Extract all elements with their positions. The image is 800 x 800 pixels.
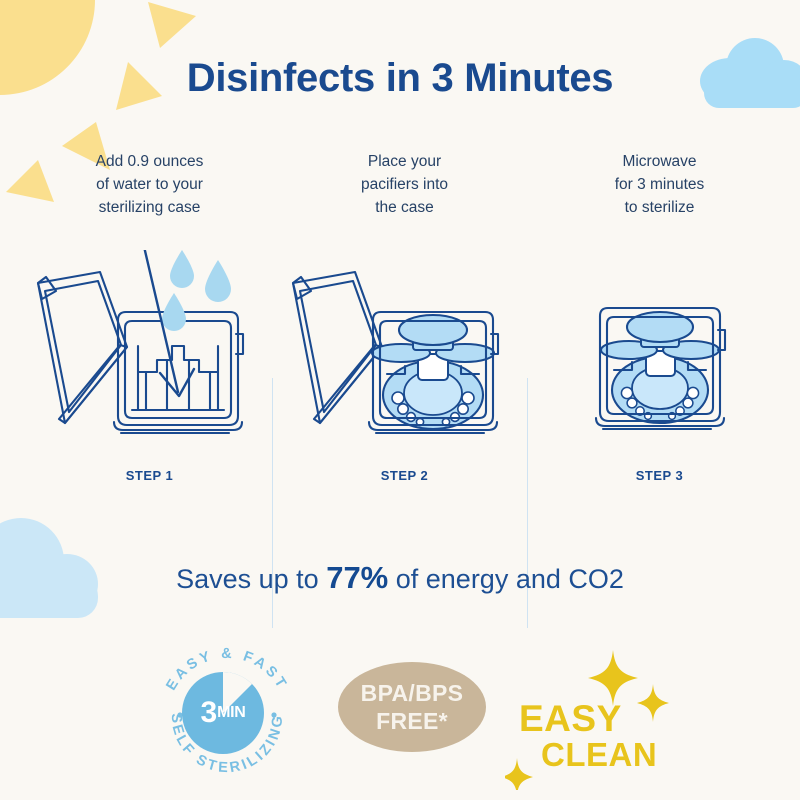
caption-line: of water to your <box>42 173 257 196</box>
caption-line: sterilizing case <box>42 196 257 219</box>
caption-line: the case <box>297 196 512 219</box>
bpa-line-2: FREE* <box>376 707 448 735</box>
step-column-1: Add 0.9 ounces of water to your steriliz… <box>22 150 277 510</box>
pie-timer-icon: 3MIN <box>182 672 264 754</box>
steps-section: Add 0.9 ounces of water to your steriliz… <box>0 150 800 510</box>
caption-line: to sterilize <box>552 196 767 219</box>
savings-prefix: Saves up to <box>176 564 326 594</box>
easy-clean-line-2: CLEAN <box>541 736 657 774</box>
savings-suffix: of energy and CO2 <box>388 564 624 594</box>
bpa-free-badge: BPA/BPS FREE* <box>338 662 486 752</box>
savings-value: 77% <box>326 560 388 595</box>
step-column-2: Place your pacifiers into the case <box>277 150 532 510</box>
water-drop <box>162 250 231 331</box>
step-2-caption: Place your pacifiers into the case <box>277 150 532 219</box>
open-case-with-pacifier-icon <box>277 250 532 465</box>
step-1-label: STEP 1 <box>22 468 277 483</box>
caption-line: for 3 minutes <box>552 173 767 196</box>
seal-center-number: 3 <box>200 698 217 728</box>
step-column-3: Microwave for 3 minutes to sterilize <box>532 150 787 510</box>
step-3-caption: Microwave for 3 minutes to sterilize <box>532 150 787 219</box>
caption-line: Microwave <box>552 150 767 173</box>
easy-clean-badge: EASY CLEAN <box>505 640 690 790</box>
open-case-with-water-drops-icon <box>22 250 277 465</box>
infographic-canvas: Disinfects in 3 Minutes Add 0.9 ounces o… <box>0 0 800 800</box>
closed-case-with-pacifier-icon <box>532 250 787 465</box>
caption-line: pacifiers into <box>297 173 512 196</box>
caption-line: Place your <box>297 150 512 173</box>
step-3-label: STEP 3 <box>532 468 787 483</box>
step-2-label: STEP 2 <box>277 468 532 483</box>
easy-fast-seal-badge: EASY & FAST SELF STERILIZING 3MIN <box>155 645 300 780</box>
step-1-caption: Add 0.9 ounces of water to your steriliz… <box>22 150 277 219</box>
savings-banner: Saves up to 77% of energy and CO2 <box>0 560 800 596</box>
badges-row: EASY & FAST SELF STERILIZING 3MIN <box>0 640 800 790</box>
easy-clean-line-1: EASY <box>519 698 622 740</box>
bpa-line-1: BPA/BPS <box>361 679 464 707</box>
pacifier-icon <box>601 312 719 423</box>
page-title: Disinfects in 3 Minutes <box>0 56 800 101</box>
pacifier-icon <box>372 315 494 429</box>
caption-line: Add 0.9 ounces <box>42 150 257 173</box>
seal-center-unit: MIN <box>217 705 245 721</box>
seal-center-label: 3MIN <box>182 672 264 754</box>
